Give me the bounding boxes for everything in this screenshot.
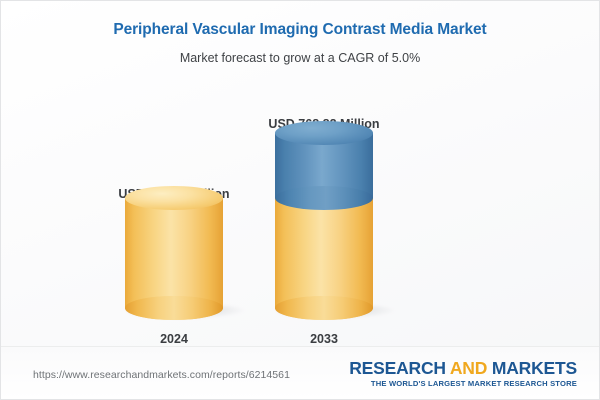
chart-subtitle: Market forecast to grow at a CAGR of 5.0… bbox=[1, 51, 599, 65]
research-and-markets-logo[interactable]: RESEARCH AND MARKETS THE WORLD'S LARGEST… bbox=[349, 359, 577, 388]
bar-body-base-2024 bbox=[125, 198, 223, 308]
bar-cylinder-2033[interactable] bbox=[275, 121, 373, 308]
chart-card: Peripheral Vascular Imaging Contrast Med… bbox=[0, 0, 600, 400]
bar-top-cap-2024 bbox=[125, 186, 223, 210]
x-axis-label-2033: 2033 bbox=[264, 332, 384, 346]
logo-tagline: THE WORLD'S LARGEST MARKET RESEARCH STOR… bbox=[349, 379, 577, 388]
chart-plot-area: USD 499.77 Million 2024 USD 768.82 Milli… bbox=[1, 96, 599, 346]
bar-bottom-edge-2024 bbox=[125, 296, 223, 320]
chart-footer: https://www.researchandmarkets.com/repor… bbox=[1, 346, 599, 399]
bar-bottom-clip-2024 bbox=[125, 296, 223, 320]
bar-bottom-edge-2033 bbox=[275, 296, 373, 320]
bar-bottom-clip-2033 bbox=[275, 296, 373, 320]
bar-cylinder-2024[interactable] bbox=[125, 186, 223, 308]
logo-word-research: RESEARCH bbox=[349, 358, 446, 378]
x-axis-label-2024: 2024 bbox=[114, 332, 234, 346]
report-url-link[interactable]: https://www.researchandmarkets.com/repor… bbox=[33, 369, 290, 381]
bar-top-cap-2033 bbox=[275, 121, 373, 145]
logo-word-and: AND bbox=[450, 358, 487, 378]
logo-word-markets: MARKETS bbox=[492, 358, 577, 378]
bar-body-base-2033 bbox=[275, 198, 373, 308]
logo-wordmark: RESEARCH AND MARKETS bbox=[349, 359, 577, 377]
chart-header: Peripheral Vascular Imaging Contrast Med… bbox=[1, 1, 599, 65]
page-title: Peripheral Vascular Imaging Contrast Med… bbox=[1, 21, 599, 40]
bar-segment-seam-2033 bbox=[275, 186, 373, 210]
